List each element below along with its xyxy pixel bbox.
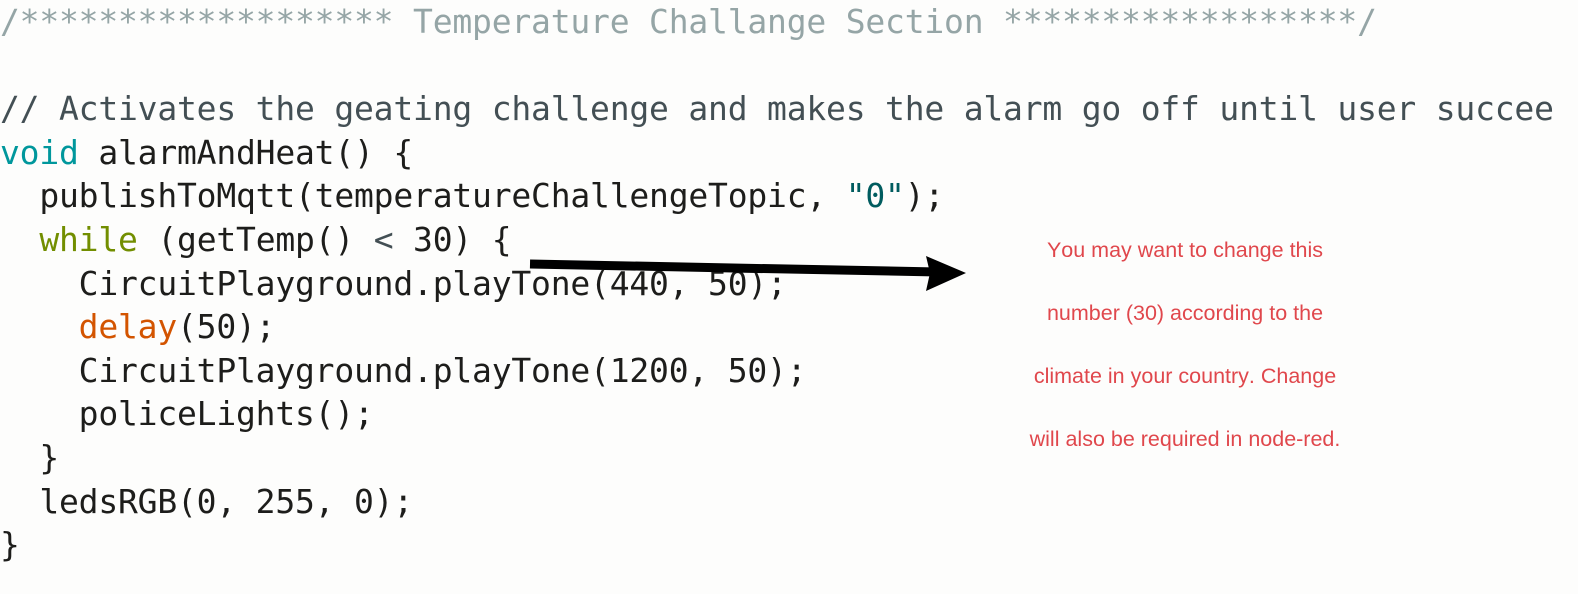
code-token-keyword: void [0, 133, 79, 172]
code-token-linecomment: // Activates the geating challenge and m… [0, 89, 1554, 128]
annotation-note-line-1: You may want to change this [985, 235, 1385, 267]
code-token-plain: 30) { [393, 220, 511, 259]
line-2-blank [0, 44, 1578, 88]
code-screenshot-canvas: /******************* Temperature Challan… [0, 0, 1578, 594]
line-1-banner-comment: /******************* Temperature Challan… [0, 0, 1578, 44]
code-token-func: delay [79, 307, 177, 346]
code-token-plain: policeLights(); [0, 394, 374, 433]
code-token-control: while [39, 220, 137, 259]
annotation-note-line-3: climate in your country. Change [985, 361, 1385, 393]
code-token-plain: (getTemp() [138, 220, 374, 259]
code-token-plain: publishToMqtt(temperatureChallengeTopic, [0, 176, 846, 215]
code-token-string: "0" [846, 176, 905, 215]
code-token-plain [0, 307, 79, 346]
code-token-plain [0, 220, 39, 259]
code-token-op: < [374, 220, 394, 259]
annotation-note-text: You may want to change this number (30) … [985, 203, 1385, 487]
code-token-plain: } [0, 438, 59, 477]
code-token-plain: CircuitPlayground.playTone(1200, 50); [0, 351, 806, 390]
code-token-plain: ); [905, 176, 944, 215]
annotation-note-line-4: will also be required in node-red. [985, 424, 1385, 456]
line-4-function-signature: void alarmAndHeat() { [0, 131, 1578, 175]
annotation-note-line-2: number (30) according to the [985, 298, 1385, 330]
line-3-description-comment: // Activates the geating challenge and m… [0, 87, 1578, 131]
code-token-comment: /******************* Temperature Challan… [0, 2, 1377, 41]
line-13-close-function: } [0, 523, 1578, 567]
code-token-plain: CircuitPlayground.playTone(440, 50); [0, 264, 787, 303]
code-token-plain: alarmAndHeat() { [79, 133, 413, 172]
code-token-plain: ledsRGB(0, 255, 0); [0, 482, 413, 521]
code-token-plain: } [0, 525, 20, 564]
code-token-plain: (50); [177, 307, 275, 346]
